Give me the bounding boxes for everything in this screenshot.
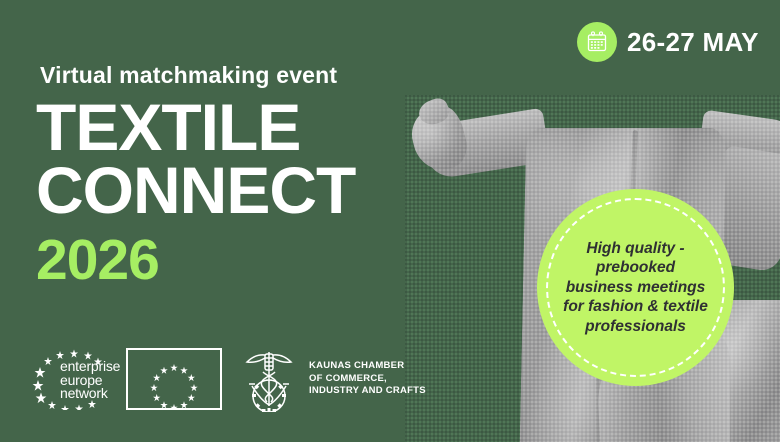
sweater-left-sleeve [422,108,551,180]
promo-banner: Virtual matchmaking event TEXTILE CONNEC… [0,0,780,442]
callout-text: High quality - prebooked business meetin… [555,239,716,337]
kaunas-chamber-text: KAUNAS CHAMBER OF COMMERCE, INDUSTRY AND… [309,360,426,398]
event-subtitle: Virtual matchmaking event [40,62,337,89]
enterprise-europe-network-logo: enterprise europe network [30,348,116,410]
callout-line-4: for fashion & textile [563,297,708,317]
page-title: TEXTILE CONNECT 2026 [36,96,355,292]
highlight-callout: High quality - prebooked business meetin… [537,189,734,386]
callout-line-2: prebooked [563,258,708,278]
callout-line-1: High quality - [563,239,708,259]
sweater-left-cuff [406,103,471,176]
eu-flag-icon [126,348,222,410]
sweater-right-sleeve [697,110,780,179]
callout-line-5: professionals [563,317,708,337]
logo-bar: enterprise europe network [30,346,426,412]
date-badge: 26-27 MAY [577,22,759,62]
date-label: 26-27 MAY [627,27,759,58]
european-union-flag-logo [126,348,222,410]
title-line-textile: TEXTILE [36,96,355,159]
title-line-connect: CONNECT [36,159,355,222]
caduceus-gear-icon [238,346,300,412]
title-year: 2026 [36,222,355,292]
een-line-3: network [60,387,120,401]
calendar-icon [577,22,617,62]
een-logo-text: enterprise europe network [60,360,120,401]
kaunas-chamber-logo: KAUNAS CHAMBER OF COMMERCE, INDUSTRY AND… [238,346,426,412]
callout-line-3: business meetings [563,278,708,298]
sweater-left-cuff-fold [416,95,453,128]
